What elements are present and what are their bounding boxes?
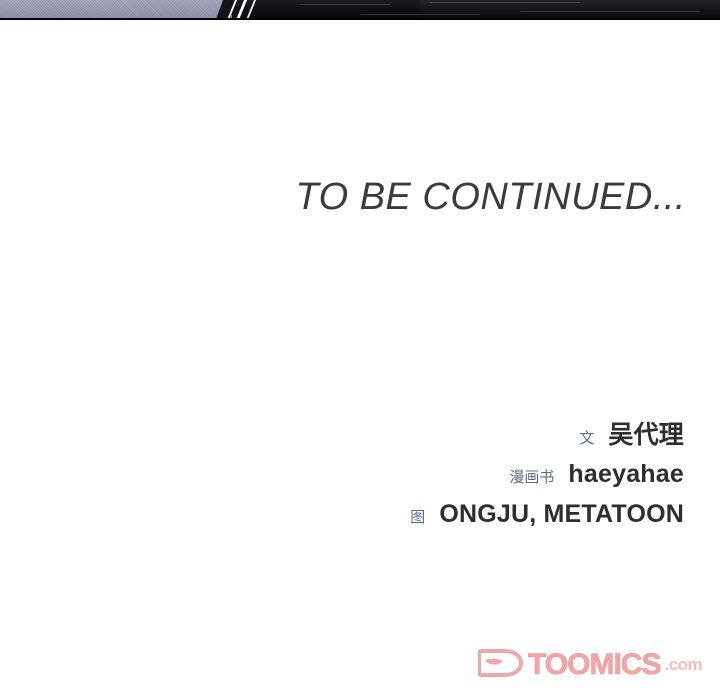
credit-label-writer: 文 <box>579 431 594 446</box>
credits-block: 文 吴代理 漫画书 haeyahae 图 ONGJU, METATOON <box>264 422 684 540</box>
comic-panel-strip <box>0 0 720 20</box>
panel-gloss-line <box>300 4 391 5</box>
panel-bottom-border <box>0 18 720 20</box>
toomics-domain-suffix: .com <box>664 655 702 675</box>
panel-gloss-line <box>360 14 481 15</box>
toomics-wordmark: TOOMICS <box>528 650 660 680</box>
credit-label-comic: 漫画书 <box>509 470 554 485</box>
credit-value-comic: haeyahae <box>568 461 684 487</box>
panel-gloss-line <box>430 2 581 3</box>
toomics-watermark: TOOMICS .com <box>478 645 692 685</box>
credit-row-writer: 文 吴代理 <box>264 422 684 448</box>
credit-value-writer: 吴代理 <box>608 422 684 448</box>
panel-dark-middle <box>232 0 432 18</box>
credit-value-art: ONGJU, METATOON <box>439 501 684 527</box>
credit-label-art: 图 <box>410 510 425 525</box>
panel-gloss-line <box>520 11 701 12</box>
toomics-d-mark-icon <box>478 647 524 684</box>
panel-light-left <box>0 0 236 18</box>
credit-row-art: 图 ONGJU, METATOON <box>264 501 684 527</box>
to-be-continued-text: TO BE CONTINUED... <box>0 176 686 219</box>
credit-row-comic: 漫画书 haeyahae <box>264 461 684 487</box>
